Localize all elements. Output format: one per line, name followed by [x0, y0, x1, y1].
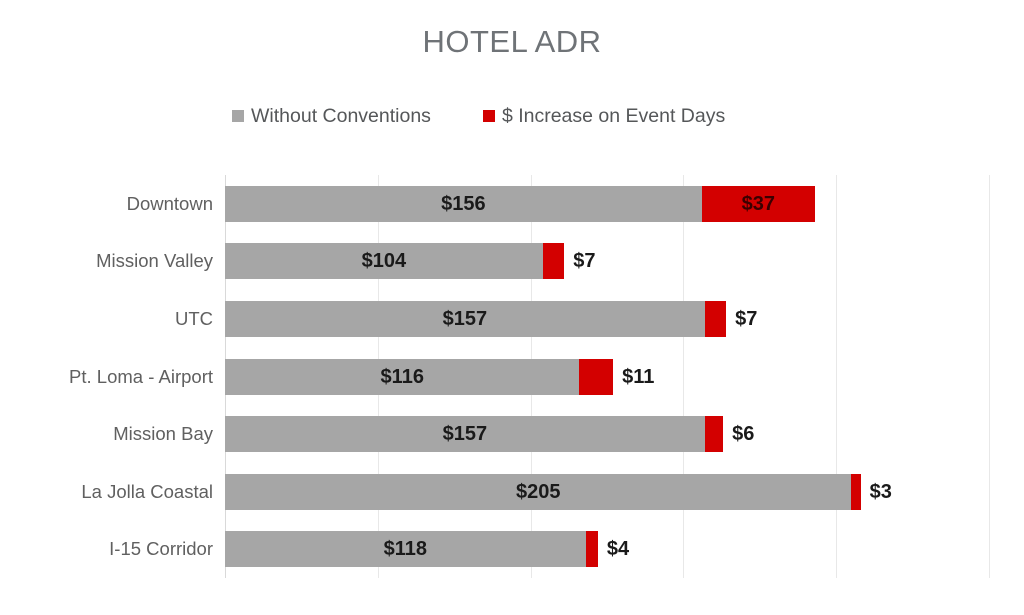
legend-swatch-gray-square-marker	[232, 110, 244, 122]
bar-segment-increase-on-event-days[interactable]	[705, 301, 726, 337]
bar-value-label-without-conventions: $104	[225, 243, 543, 279]
bar-row: $156$37	[225, 186, 989, 222]
bar-value-label-increase-on-event-days: $37	[702, 186, 815, 222]
legend-item-without-conventions[interactable]: Without Conventions	[232, 105, 431, 128]
category-label: UTC	[0, 310, 213, 329]
bar-value-label-increase-on-event-days: $4	[598, 531, 629, 567]
bar-segment-increase-on-event-days[interactable]	[586, 531, 598, 567]
bar-value-label-without-conventions: $118	[225, 531, 586, 567]
bar-row: $104$7	[225, 243, 989, 279]
legend-swatch-red-square-marker	[483, 110, 495, 122]
bar-value-label-increase-on-event-days: $6	[723, 416, 754, 452]
bar-value-label-without-conventions: $157	[225, 416, 705, 452]
bar-segment-increase-on-event-days[interactable]	[543, 243, 564, 279]
bar-value-label-increase-on-event-days: $11	[613, 359, 654, 395]
category-label: I-15 Corridor	[0, 540, 213, 559]
chart-title: HOTEL ADR	[0, 24, 1024, 60]
category-axis-labels: DowntownMission ValleyUTCPt. Loma - Airp…	[0, 175, 213, 578]
legend-label-without-conventions: Without Conventions	[251, 105, 431, 128]
bar-value-label-increase-on-event-days: $7	[726, 301, 757, 337]
category-label: Downtown	[0, 195, 213, 214]
hotel-adr-chart: HOTEL ADR Without Conventions $ Increase…	[0, 0, 1024, 615]
bar-value-label-without-conventions: $157	[225, 301, 705, 337]
category-label: Pt. Loma - Airport	[0, 368, 213, 387]
bar-value-label-without-conventions: $156	[225, 186, 702, 222]
bar-row: $118$4	[225, 531, 989, 567]
category-label: Mission Bay	[0, 425, 213, 444]
bar-segment-increase-on-event-days[interactable]	[705, 416, 723, 452]
bar-segment-increase-on-event-days[interactable]	[851, 474, 860, 510]
bar-row: $157$7	[225, 301, 989, 337]
bar-row: $157$6	[225, 416, 989, 452]
bar-value-label-without-conventions: $205	[225, 474, 851, 510]
bar-row: $116$11	[225, 359, 989, 395]
bar-segment-increase-on-event-days[interactable]	[579, 359, 613, 395]
legend-item-increase-on-event-days[interactable]: $ Increase on Event Days	[483, 105, 725, 128]
bar-value-label-increase-on-event-days: $3	[861, 474, 892, 510]
bar-value-label-increase-on-event-days: $7	[564, 243, 595, 279]
legend-label-increase-on-event-days: $ Increase on Event Days	[502, 105, 725, 128]
bar-row: $205$3	[225, 474, 989, 510]
category-label: Mission Valley	[0, 252, 213, 271]
gridline	[989, 175, 990, 578]
plot-area: $156$37$104$7$157$7$116$11$157$6$205$3$1…	[225, 175, 989, 578]
chart-legend: Without Conventions $ Increase on Event …	[232, 101, 832, 131]
category-label: La Jolla Coastal	[0, 483, 213, 502]
bar-value-label-without-conventions: $116	[225, 359, 579, 395]
